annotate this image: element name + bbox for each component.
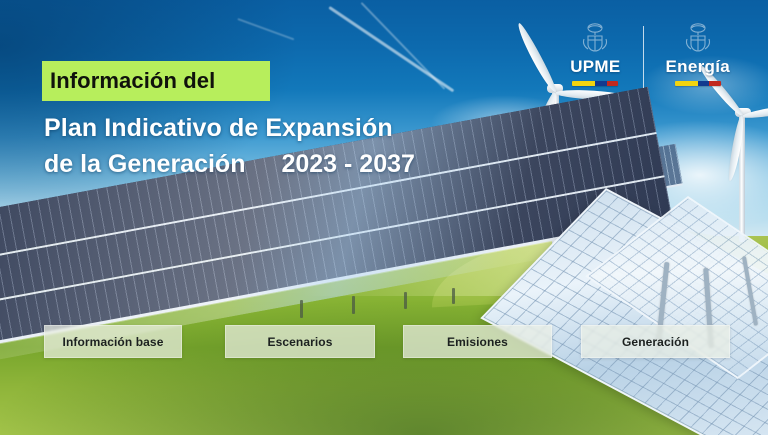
flag-yellow-stripe: [675, 81, 698, 86]
highlight-label: Información del: [50, 66, 215, 96]
nav-button-escenarios[interactable]: Escenarios: [225, 325, 375, 358]
page-title-line-1: Plan Indicativo de Expansión: [44, 112, 393, 144]
colombia-coat-of-arms-icon: [580, 22, 610, 56]
flag-red-stripe: [607, 81, 619, 86]
page-title-line-2-text: de la Generación: [44, 150, 245, 178]
solar-mount-post: [404, 292, 407, 309]
solar-mount-post: [352, 296, 355, 314]
slide-canvas: UPME Energía: [0, 0, 768, 435]
logo-upme[interactable]: UPME: [548, 22, 642, 86]
flag-blue-stripe: [595, 81, 607, 86]
colombia-flag-icon: [675, 81, 721, 86]
nav-button-informacion-base[interactable]: Información base: [44, 325, 182, 358]
nav-button-bar: Información base Escenarios Emisiones Ge…: [0, 325, 768, 357]
flag-yellow-stripe: [572, 81, 595, 86]
logo-group: UPME Energía: [548, 22, 752, 88]
colombia-coat-of-arms-icon: [683, 22, 713, 56]
nav-button-emisiones[interactable]: Emisiones: [403, 325, 552, 358]
contrail: [361, 2, 446, 90]
logo-energia[interactable]: Energía: [644, 22, 752, 86]
logo-energia-label: Energía: [666, 57, 730, 77]
nav-button-generacion[interactable]: Generación: [581, 325, 730, 358]
solar-mount-post: [452, 288, 455, 304]
flag-blue-stripe: [698, 81, 710, 86]
page-title-line-2: de la Generación2023 - 2037: [44, 148, 415, 180]
colombia-flag-icon: [572, 81, 618, 86]
solar-mount-post: [300, 300, 303, 318]
page-title-years: 2023 - 2037: [245, 150, 414, 178]
flag-red-stripe: [709, 81, 721, 86]
logo-upme-label: UPME: [570, 57, 620, 77]
